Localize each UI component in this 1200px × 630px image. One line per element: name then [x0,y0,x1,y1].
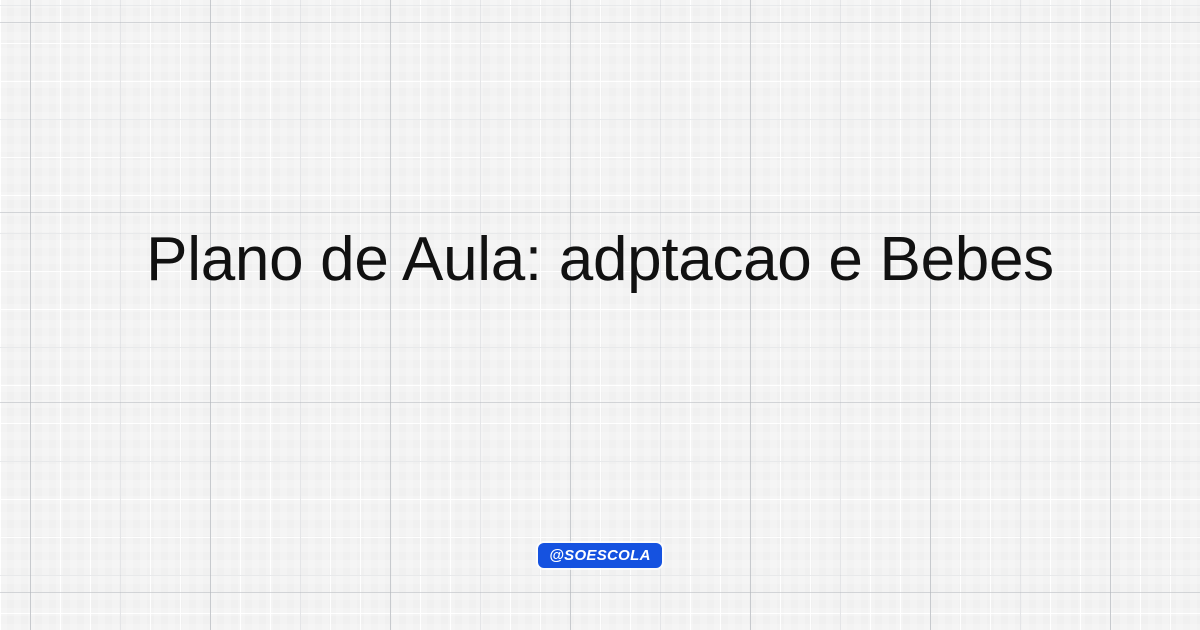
hero-title-container: Plano de Aula: adptacao e Bebes [0,0,1200,520]
social-share-card: Plano de Aula: adptacao e Bebes @SOESCOL… [0,0,1200,630]
brand-handle-badge[interactable]: @SOESCOLA [538,543,662,568]
brand-handle-label: @SOESCOLA [549,548,651,563]
page-title: Plano de Aula: adptacao e Bebes [146,224,1054,296]
watermark-container: @SOESCOLA [0,543,1200,568]
